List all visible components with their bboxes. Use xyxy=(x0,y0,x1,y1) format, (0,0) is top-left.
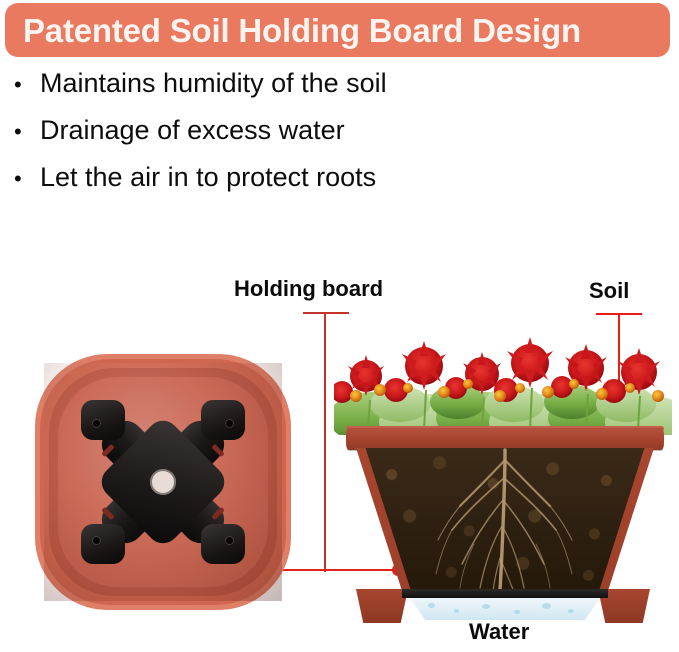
callout-label-water: Water xyxy=(469,621,529,643)
bullet-icon: • xyxy=(14,121,40,143)
water-bubble xyxy=(428,603,435,608)
bullet-icon: • xyxy=(14,168,40,190)
holding-board-pad xyxy=(81,524,125,564)
pot-cross-section-image xyxy=(334,330,672,620)
list-item-label: Let the air in to protect roots xyxy=(40,164,376,191)
holding-board-cross-section xyxy=(402,589,608,598)
water-bubble xyxy=(514,610,520,614)
list-item: • Let the air in to protect roots xyxy=(14,164,654,211)
bullet-icon: • xyxy=(14,74,40,96)
leader-line-holding-board-stem xyxy=(324,312,326,572)
leader-line-holding-board-cap xyxy=(303,312,349,314)
water-bubble xyxy=(568,609,574,613)
holding-board-pad xyxy=(81,400,125,440)
callout-label-holding-board: Holding board xyxy=(234,278,383,300)
water-bubble xyxy=(482,604,490,609)
water-bubble xyxy=(454,609,459,613)
list-item: • Drainage of excess water xyxy=(14,117,654,164)
feature-list: • Maintains humidity of the soil • Drain… xyxy=(14,70,654,211)
pot-top-view-image xyxy=(18,337,308,627)
holding-board-vent-hole xyxy=(226,537,233,544)
callout-label-soil: Soil xyxy=(589,280,629,302)
holding-board-vent-hole xyxy=(226,420,233,427)
header-banner: Patented Soil Holding Board Design xyxy=(5,3,670,57)
page-title: Patented Soil Holding Board Design xyxy=(23,14,581,47)
holding-board-pad xyxy=(201,400,245,440)
list-item: • Maintains humidity of the soil xyxy=(14,70,654,117)
product-diagram: Holding board Soil Water xyxy=(0,255,679,652)
holding-board-center-hole xyxy=(150,469,176,495)
holding-board-pad xyxy=(201,524,245,564)
holding-board-vent-hole xyxy=(93,537,100,544)
list-item-label: Drainage of excess water xyxy=(40,117,345,144)
water-layer xyxy=(410,598,600,620)
water-bubble xyxy=(542,603,551,609)
root-system xyxy=(356,448,654,596)
holding-board-vent-hole xyxy=(93,420,100,427)
flower-bed xyxy=(334,330,672,435)
holding-board-component xyxy=(75,394,251,570)
list-item-label: Maintains humidity of the soil xyxy=(40,70,387,97)
pot-rim xyxy=(346,428,664,450)
pot-foot xyxy=(356,589,408,623)
flowers-illustration xyxy=(334,330,672,435)
